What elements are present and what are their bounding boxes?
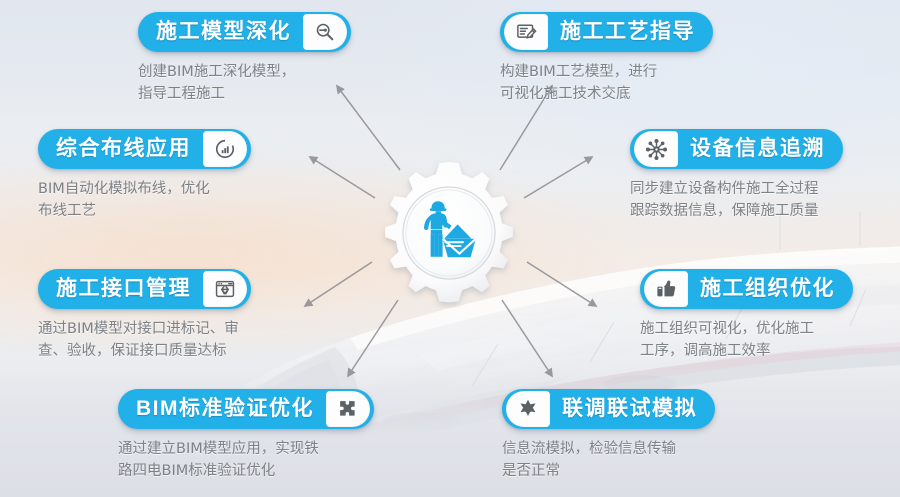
- item-construction-model-deepening[interactable]: 施工模型深化 创建BIM施工深化模型， 指导工程施工: [138, 12, 351, 106]
- pill-construction-organization-optimization[interactable]: 施工组织优化: [640, 269, 853, 309]
- pill-construction-model-deepening[interactable]: 施工模型深化: [138, 12, 351, 52]
- arrow-to-interface-management: [305, 262, 372, 306]
- item-joint-debugging-simulation[interactable]: 联调联试模拟 信息流模拟，检验信息传输 是否正常: [502, 389, 715, 483]
- document-edit-icon: [504, 14, 548, 50]
- pill-joint-debugging-simulation[interactable]: 联调联试模拟: [502, 389, 715, 429]
- pill-label: 联调联试模拟: [550, 389, 715, 429]
- pill-integrated-wiring-application[interactable]: 综合布线应用: [38, 129, 251, 169]
- item-description: 施工组织可视化，优化施工 工序，调高施工效率: [640, 318, 853, 363]
- arrow-to-bim-standard: [348, 300, 398, 376]
- item-description: 构建BIM工艺模型，进行 可视化施工技术交底: [500, 61, 713, 106]
- pill-label: BIM标准验证优化: [118, 389, 326, 429]
- item-description: 通过建立BIM模型应用，实现铁 路四电BIM标准验证优化: [118, 438, 374, 483]
- network-nodes-icon: [634, 131, 678, 167]
- item-description: 通过BIM模型对接口进标记、审 查、验收，保证接口质量达标: [38, 318, 251, 363]
- item-description: 创建BIM施工深化模型， 指导工程施工: [138, 61, 351, 106]
- item-equipment-information-tracing[interactable]: 设备信息追溯 同步建立设备构件施工全过程 跟踪数据信息，保障施工质量: [630, 129, 843, 223]
- pill-label: 施工接口管理: [38, 269, 203, 309]
- puzzle-piece-icon: [326, 391, 370, 427]
- pill-construction-process-guidance[interactable]: 施工工艺指导: [500, 12, 713, 52]
- magnifier-icon: [303, 14, 347, 50]
- item-description: BIM自动化模拟布线，优化 布线工艺: [38, 178, 251, 223]
- arrow-to-joint-debugging: [502, 300, 552, 376]
- item-description: 同步建立设备构件施工全过程 跟踪数据信息，保障施工质量: [630, 178, 843, 223]
- arrow-to-equipment-tracing: [524, 157, 592, 198]
- infographic-canvas: 施工模型深化 创建BIM施工深化模型， 指导工程施工: [0, 0, 900, 497]
- thumbs-up-icon: [644, 271, 688, 307]
- pill-label: 综合布线应用: [38, 129, 203, 169]
- pill-equipment-information-tracing[interactable]: 设备信息追溯: [630, 129, 843, 169]
- item-bim-standard-verification-optimization[interactable]: BIM标准验证优化 通过建立BIM模型应用，实现铁 路四电BIM标准验证优化: [118, 389, 374, 483]
- item-construction-organization-optimization[interactable]: 施工组织优化 施工组织可视化，优化施工 工序，调高施工效率: [640, 269, 853, 363]
- item-description: 信息流模拟，检验信息传输 是否正常: [502, 438, 715, 483]
- item-construction-process-guidance[interactable]: 施工工艺指导 构建BIM工艺模型，进行 可视化施工技术交底: [500, 12, 713, 106]
- window-sync-icon: [203, 271, 247, 307]
- pill-label: 设备信息追溯: [678, 129, 843, 169]
- gauge-chart-icon: [203, 131, 247, 167]
- gear-with-worker-icon: [374, 158, 524, 308]
- pill-construction-interface-management[interactable]: 施工接口管理: [38, 269, 251, 309]
- center-hub[interactable]: [374, 158, 524, 308]
- item-construction-interface-management[interactable]: 施工接口管理 通过BIM模型对接口进标记、审 查、验收，保证接口质量达标: [38, 269, 251, 363]
- pill-label: 施工工艺指导: [548, 12, 713, 52]
- six-point-star-icon: [506, 391, 550, 427]
- pill-label: 施工模型深化: [138, 12, 303, 52]
- arrow-to-wiring-application: [310, 157, 375, 198]
- pill-bim-standard-verification-optimization[interactable]: BIM标准验证优化: [118, 389, 374, 429]
- arrow-to-organization-optimization: [527, 262, 596, 306]
- pill-label: 施工组织优化: [688, 269, 853, 309]
- item-integrated-wiring-application[interactable]: 综合布线应用 BIM自动化模拟布线，优化 布线工艺: [38, 129, 251, 223]
